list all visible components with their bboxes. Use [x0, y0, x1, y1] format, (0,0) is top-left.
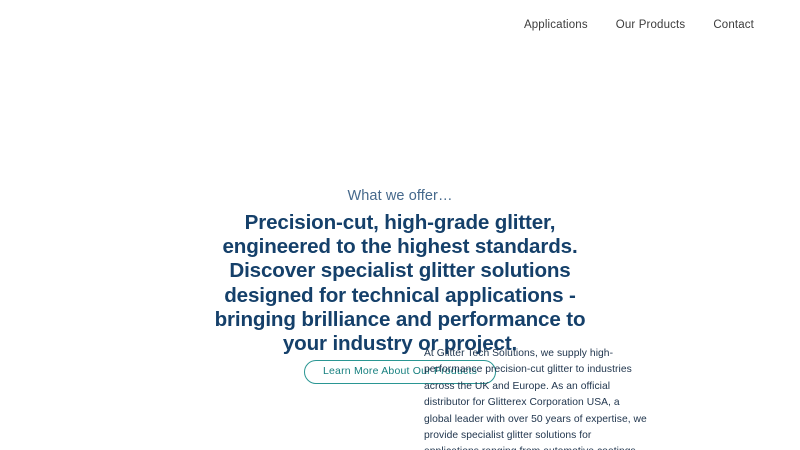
page-root: { "site": { "brand_name": "Glitter Tech …	[0, 0, 800, 450]
nav-item: Our Products	[602, 14, 700, 38]
brand-logo[interactable]	[32, 9, 192, 43]
nav-link-contact[interactable]: Contact	[699, 14, 768, 38]
hero-heading: Precision-cut, high-grade glitter, engin…	[200, 211, 600, 356]
nav-item: Applications	[510, 14, 602, 38]
intro-section: At Glitter Tech Solutions, we supply hig…	[424, 346, 648, 450]
hero-eyebrow: What we offer…	[0, 186, 800, 206]
nav-link-applications[interactable]: Applications	[510, 14, 602, 38]
site-header: Applications Our Products Contact	[0, 0, 800, 52]
nav-list: Applications Our Products Contact	[510, 14, 768, 38]
intro-paragraph: At Glitter Tech Solutions, we supply hig…	[424, 346, 648, 450]
primary-navigation: Applications Our Products Contact	[510, 14, 768, 38]
hero-section: What we offer… Precision-cut, high-grade…	[0, 186, 800, 382]
nav-item: Contact	[699, 14, 768, 38]
nav-link-our-products[interactable]: Our Products	[602, 14, 700, 38]
hero-cta-wrapper: Learn More About Our Products	[0, 360, 800, 382]
